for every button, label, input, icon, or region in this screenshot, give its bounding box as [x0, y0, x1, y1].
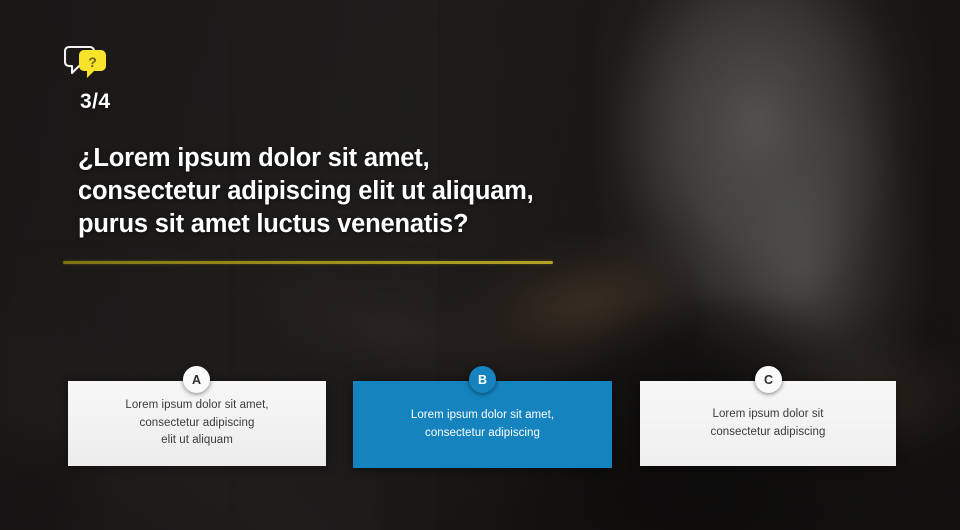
quiz-slide: ? 3/4 ¿Lorem ipsum dolor sit amet, conse…	[0, 0, 960, 530]
answer-line: consectetur adipiscing	[411, 425, 554, 443]
answer-badge-b[interactable]: B	[469, 366, 496, 393]
answer-badge-a[interactable]: A	[183, 366, 210, 393]
answer-line: Lorem ipsum dolor sit amet,	[125, 397, 268, 415]
answer-line: elit ut aliquam	[125, 432, 268, 450]
answer-options: Lorem ipsum dolor sit amet, consectetur …	[0, 0, 960, 530]
answer-text: Lorem ipsum dolor sit consectetur adipis…	[711, 406, 826, 441]
answer-line: consectetur adipiscing	[711, 424, 826, 442]
answer-badge-c[interactable]: C	[755, 366, 782, 393]
answer-text: Lorem ipsum dolor sit amet, consectetur …	[125, 397, 268, 450]
answer-line: Lorem ipsum dolor sit amet,	[411, 407, 554, 425]
answer-text: Lorem ipsum dolor sit amet, consectetur …	[411, 407, 554, 442]
answer-option-b[interactable]: Lorem ipsum dolor sit amet, consectetur …	[353, 381, 612, 468]
answer-option-c[interactable]: Lorem ipsum dolor sit consectetur adipis…	[640, 381, 896, 466]
slide-content: ? 3/4 ¿Lorem ipsum dolor sit amet, conse…	[0, 0, 960, 530]
answer-option-a[interactable]: Lorem ipsum dolor sit amet, consectetur …	[68, 381, 326, 466]
answer-line: Lorem ipsum dolor sit	[711, 406, 826, 424]
answer-line: consectetur adipiscing	[125, 415, 268, 433]
